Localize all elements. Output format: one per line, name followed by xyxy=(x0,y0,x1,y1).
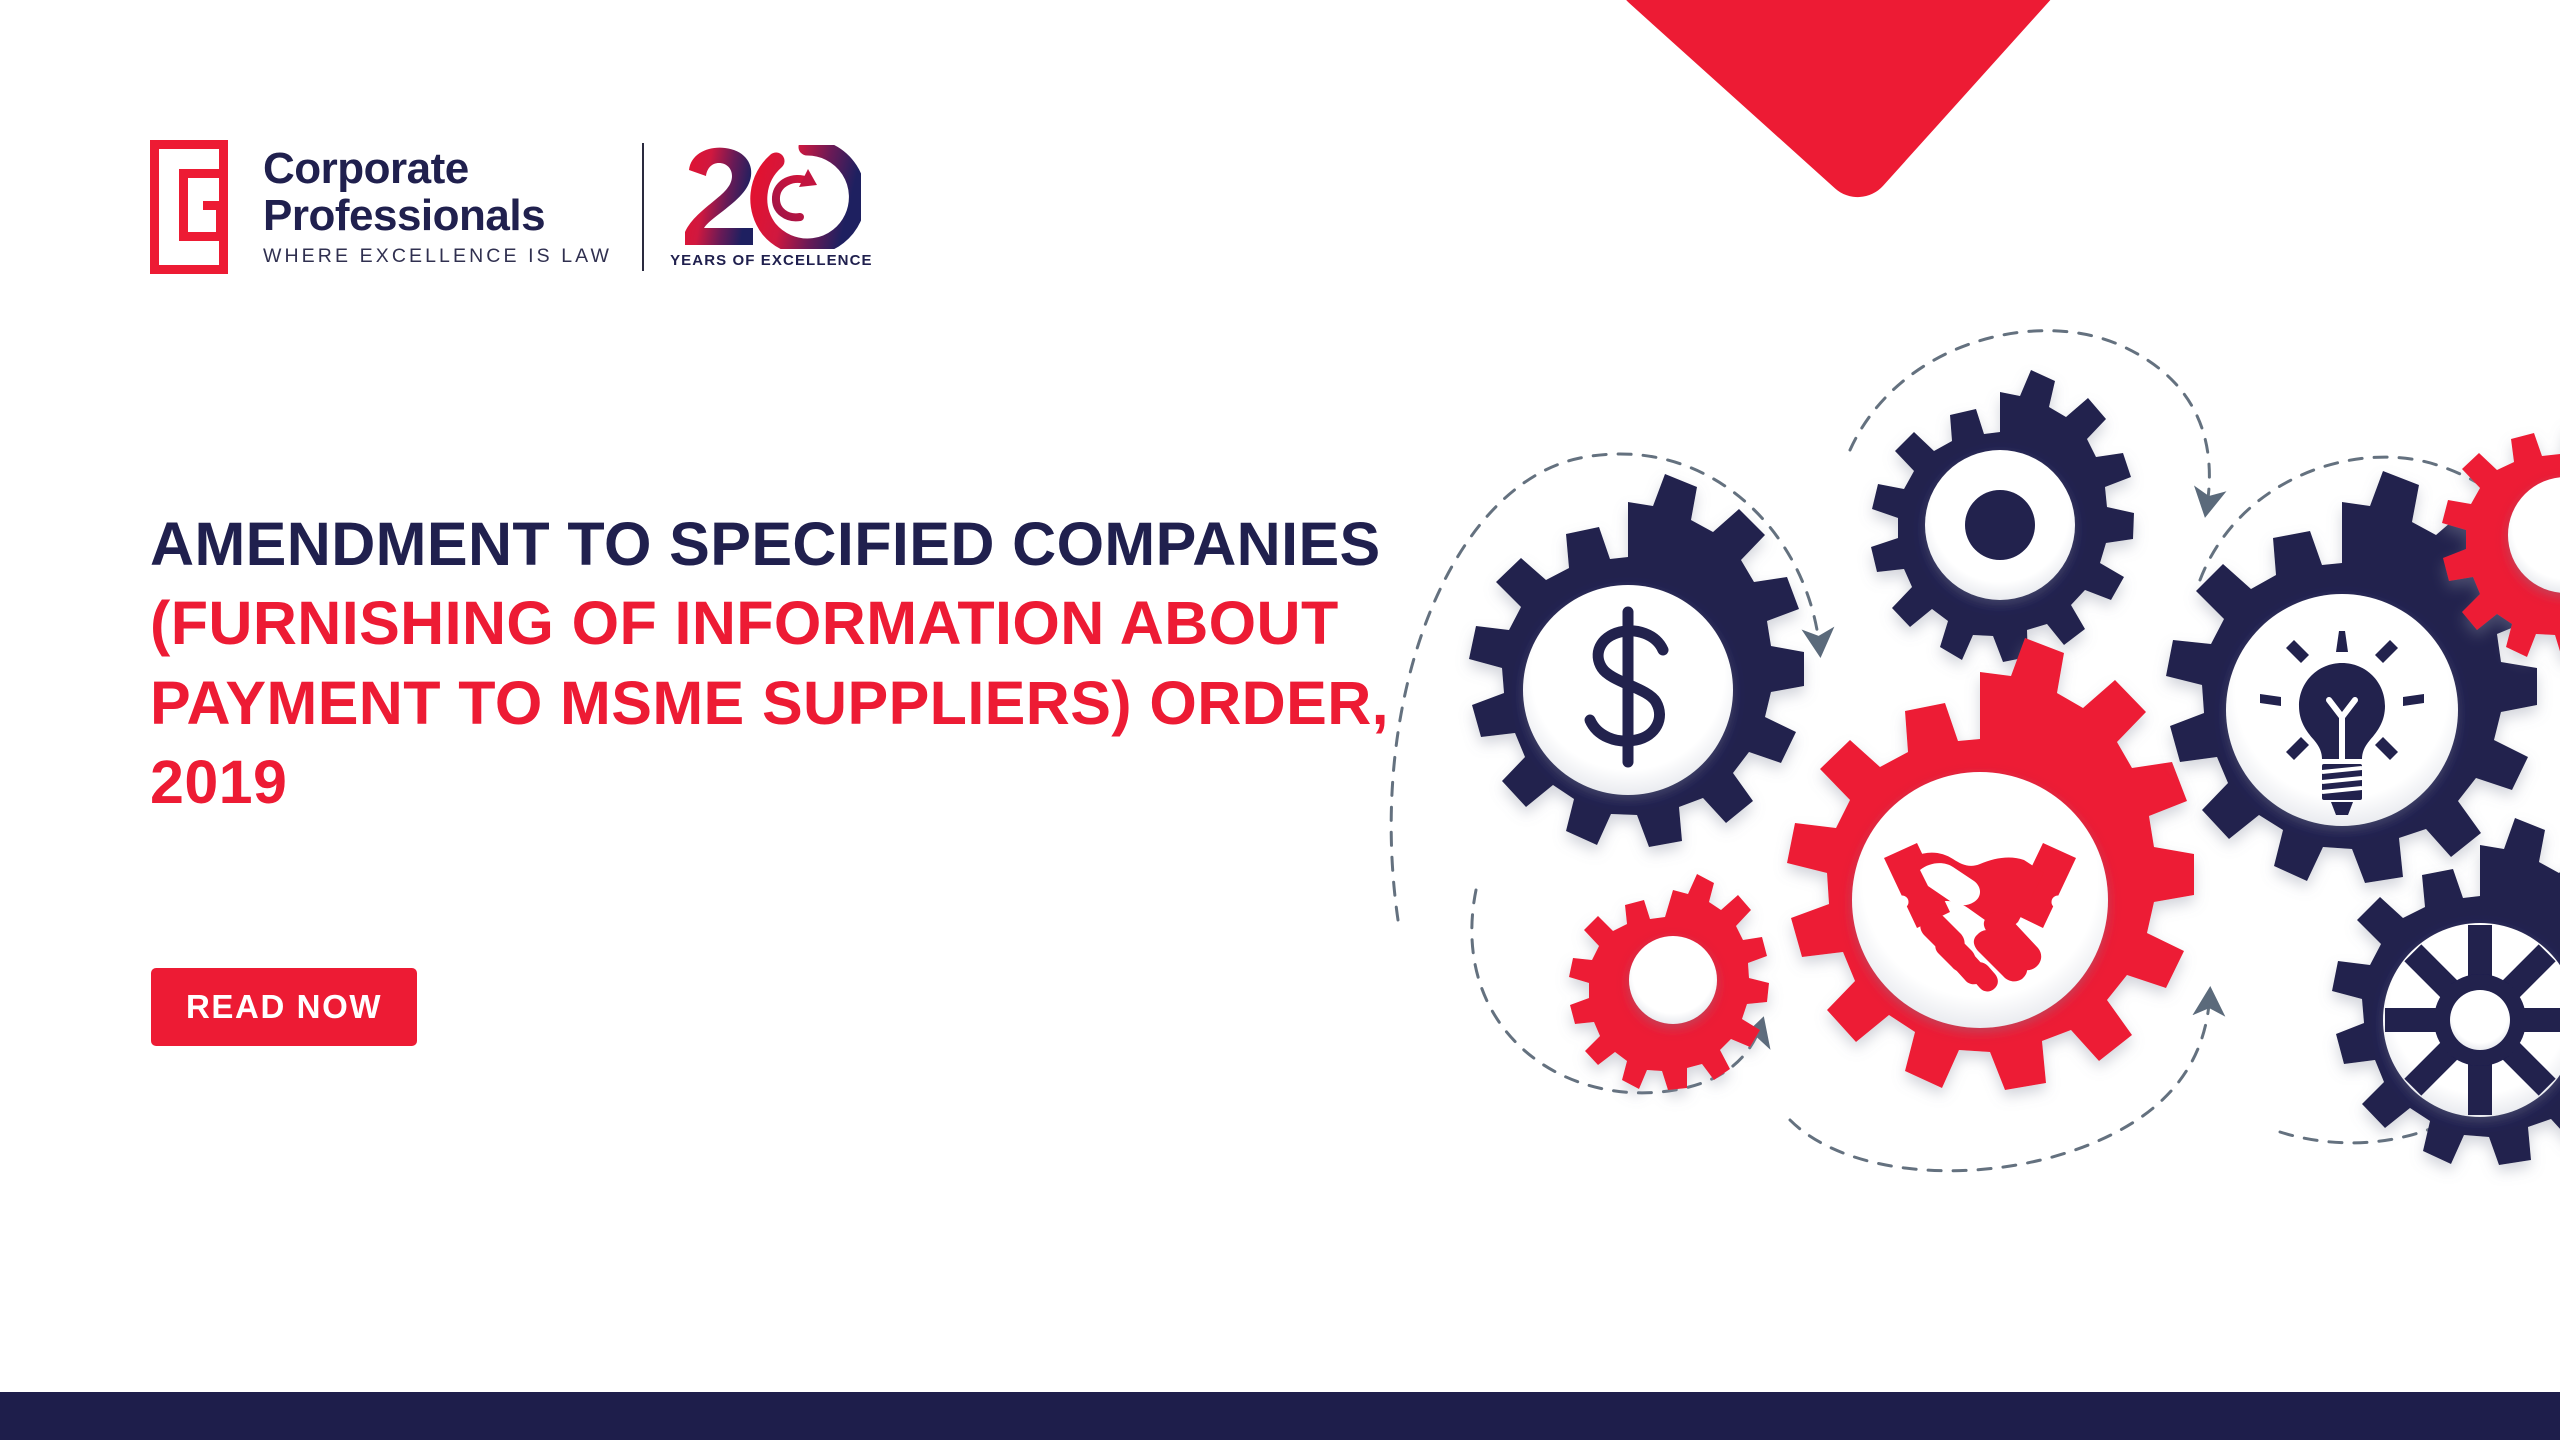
logo-tagline: WHERE EXCELLENCE IS LAW xyxy=(263,245,612,268)
anniversary-label: YEARS OF EXCELLENCE xyxy=(670,252,873,269)
headline-navy-part: AMENDMENT TO SPECIFIED COMPANIES xyxy=(150,510,1381,578)
logo-wordmark: Corporate Professionals WHERE EXCELLENCE… xyxy=(263,146,612,267)
page-title: AMENDMENT TO SPECIFIED COMPANIES (FURNIS… xyxy=(150,505,1440,822)
headline-red-part: (FURNISHING OF INFORMATION ABOUT PAYMENT… xyxy=(150,589,1389,816)
promo-banner: Corporate Professionals WHERE EXCELLENCE… xyxy=(0,0,2560,1440)
anniversary-badge: YEARS OF EXCELLENCE xyxy=(670,145,873,269)
red-diamond-decoration xyxy=(1604,0,2091,211)
anniversary-number-icon xyxy=(681,145,861,249)
footer-bar xyxy=(0,1392,2560,1440)
solid-dot-icon xyxy=(1965,490,2035,560)
dot-gear xyxy=(1871,370,2134,662)
logo-line-professionals: Professionals xyxy=(263,193,612,240)
corporate-professionals-g-mark-icon xyxy=(150,140,228,274)
read-now-button[interactable]: READ NOW xyxy=(151,968,417,1046)
gears-illustration xyxy=(1380,280,2560,1140)
brand-logo[interactable]: Corporate Professionals WHERE EXCELLENCE… xyxy=(150,140,873,274)
handshake-gear xyxy=(1787,638,2194,1090)
dollar-gear xyxy=(1469,474,1804,847)
logo-line-corporate: Corporate xyxy=(263,146,612,193)
small-red-gear xyxy=(1569,874,1769,1090)
logo-divider xyxy=(642,143,644,271)
